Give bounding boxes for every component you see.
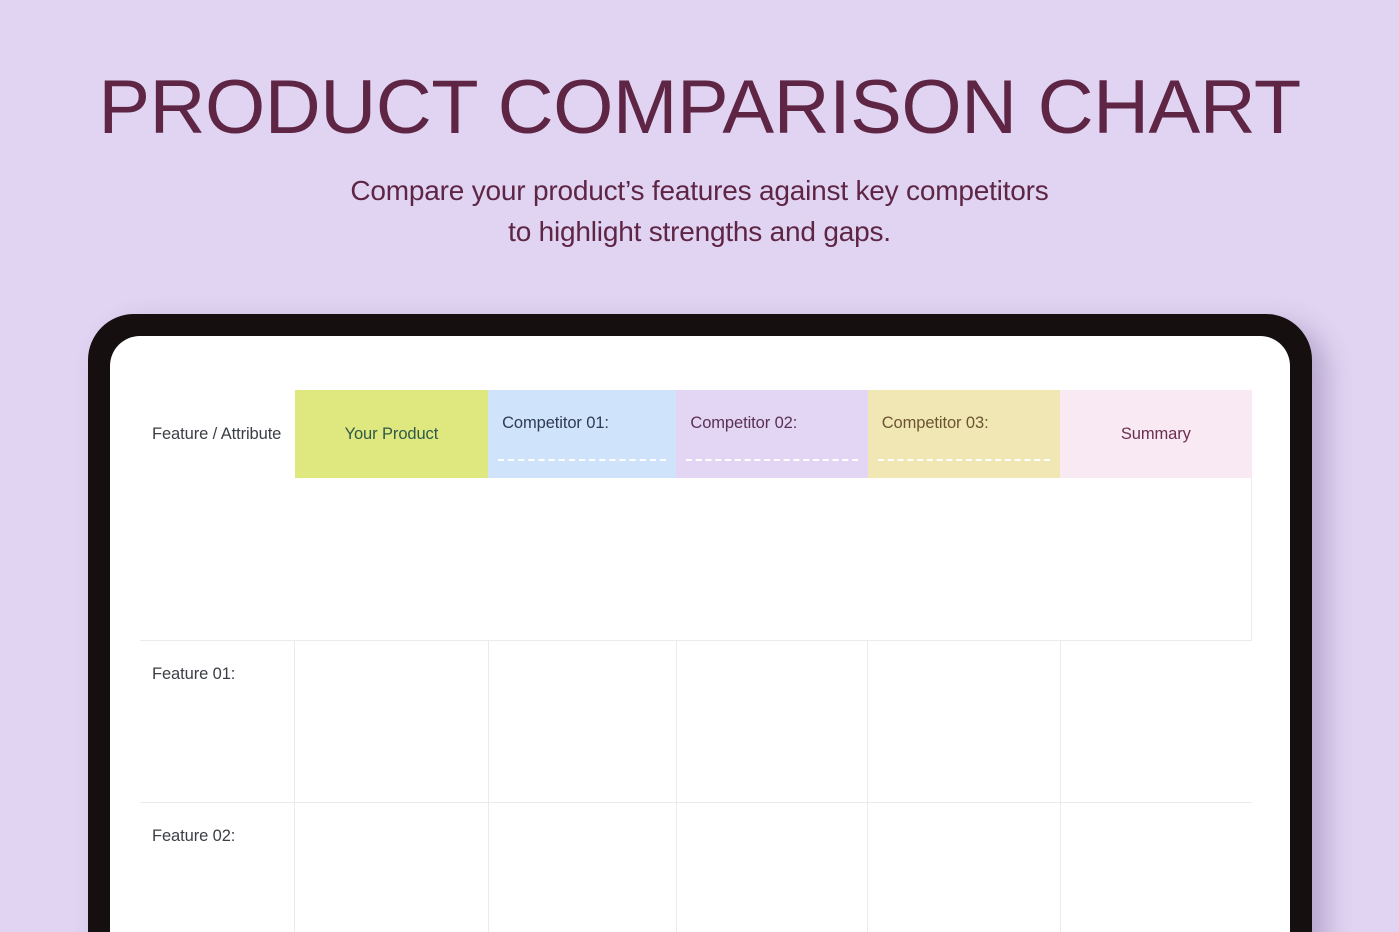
page-subtitle: Compare your product’s features against … [0, 170, 1399, 252]
cell-competitor-01[interactable] [488, 802, 676, 932]
column-header-competitor-02[interactable]: Competitor 02: [676, 390, 867, 478]
dashed-write-line [878, 459, 1050, 461]
column-header-feature-attribute[interactable]: Feature / Attribute [140, 390, 295, 478]
dashed-write-line [498, 459, 666, 461]
column-header-summary[interactable]: Summary [1060, 390, 1251, 478]
column-header-label: Your Product [345, 425, 439, 444]
cell-competitor-02[interactable] [676, 802, 867, 932]
row-label-feature-01: Feature 01: [140, 640, 295, 802]
column-header-competitor-03[interactable]: Competitor 03: [868, 390, 1060, 478]
cell-summary[interactable] [1060, 802, 1251, 932]
table-row: Feature 01: [140, 640, 1252, 802]
column-header-label: Competitor 01: [502, 414, 609, 433]
column-header-your-product[interactable]: Your Product [295, 390, 488, 478]
row-label-feature-02: Feature 02: [140, 802, 295, 932]
cell-competitor-02[interactable] [676, 640, 867, 802]
table-body: Feature 01: Feature 02: [140, 478, 1252, 932]
page-header: PRODUCT COMPARISON CHART Compare your pr… [0, 0, 1399, 252]
page-subtitle-line-2: to highlight strengths and gaps. [0, 211, 1399, 252]
column-header-label: Feature / Attribute [152, 425, 281, 444]
column-header-label: Competitor 03: [882, 414, 989, 433]
header-divider-row [140, 478, 1252, 640]
column-header-label: Competitor 02: [690, 414, 797, 433]
cell-your-product[interactable] [295, 802, 488, 932]
product-comparison-table: Feature / Attribute Your Product Competi… [140, 390, 1252, 932]
cell-competitor-01[interactable] [488, 640, 676, 802]
header-divider [140, 478, 1252, 640]
table-header: Feature / Attribute Your Product Competi… [140, 390, 1252, 478]
cell-summary[interactable] [1060, 640, 1251, 802]
cell-your-product[interactable] [295, 640, 488, 802]
device-screen: Feature / Attribute Your Product Competi… [110, 336, 1290, 932]
column-header-label: Summary [1121, 425, 1191, 444]
cell-competitor-03[interactable] [868, 802, 1060, 932]
dashed-write-line [686, 459, 857, 461]
column-header-competitor-01[interactable]: Competitor 01: [488, 390, 676, 478]
cell-competitor-03[interactable] [868, 640, 1060, 802]
table-row: Feature 02: [140, 802, 1252, 932]
tablet-device-mockup: Feature / Attribute Your Product Competi… [88, 314, 1312, 932]
page-title: PRODUCT COMPARISON CHART [0, 68, 1399, 148]
table-header-row: Feature / Attribute Your Product Competi… [140, 390, 1252, 478]
page-subtitle-line-1: Compare your product’s features against … [0, 170, 1399, 211]
